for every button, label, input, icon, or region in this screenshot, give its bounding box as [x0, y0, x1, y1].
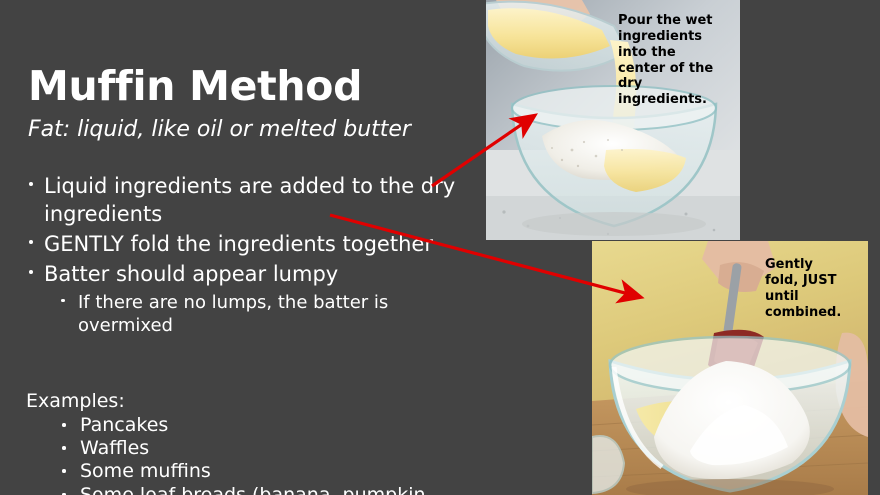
bullet-list: Liquid ingredients are added to the dry …	[0, 173, 500, 337]
photo-fold-gently: Gently fold, JUST until combined.	[592, 241, 868, 495]
bullet-item: Liquid ingredients are added to the dry …	[0, 173, 500, 229]
bullet-dot-icon	[29, 182, 33, 186]
examples-list: Pancakes Waffles Some muffins Some loaf …	[0, 414, 500, 495]
example-item: Some loaf breads (banana, pumpkin	[0, 484, 500, 495]
photo-pour-wet-into-dry: Pour the wet ingredients into the center…	[486, 0, 740, 240]
photo-fold-caption: Gently fold, JUST until combined.	[765, 257, 839, 320]
slide-subtitle: Fat: liquid, like oil or melted butter	[28, 119, 411, 141]
bullet-dot-icon	[29, 240, 33, 244]
example-item: Waffles	[0, 437, 500, 460]
bullet-dot-icon	[62, 469, 66, 473]
sub-bullet-label: If there are no lumps, the batter is ove…	[78, 291, 478, 338]
slide-title: Muffin Method	[28, 66, 362, 107]
examples-heading: Examples:	[26, 392, 125, 411]
bullet-dot-icon	[62, 446, 66, 450]
example-label: Pancakes	[80, 414, 168, 436]
example-item: Pancakes	[0, 414, 500, 437]
example-item: Some muffins	[0, 460, 500, 483]
bullet-dot-icon	[62, 423, 66, 427]
example-label: Some muffins	[80, 460, 211, 482]
bullet-dot-icon	[29, 270, 33, 274]
bullet-label: GENTLY fold the ingredients together	[44, 231, 474, 259]
sub-bullet-item: If there are no lumps, the batter is ove…	[0, 291, 500, 338]
text-content-column: Muffin Method Fat: liquid, like oil or m…	[0, 0, 500, 495]
sub-bullet-dot-icon	[61, 299, 65, 303]
slide-canvas: Pour the wet ingredients into the center…	[0, 0, 880, 495]
bullet-item: GENTLY fold the ingredients together	[0, 231, 500, 259]
example-label: Waffles	[80, 437, 149, 459]
photo-pour-caption: Pour the wet ingredients into the center…	[618, 13, 726, 108]
bullet-label: Liquid ingredients are added to the dry …	[44, 173, 474, 229]
bullet-item: Batter should appear lumpy	[0, 261, 500, 289]
bullet-label: Batter should appear lumpy	[44, 261, 474, 289]
example-label: Some loaf breads (banana, pumpkin	[80, 484, 426, 495]
